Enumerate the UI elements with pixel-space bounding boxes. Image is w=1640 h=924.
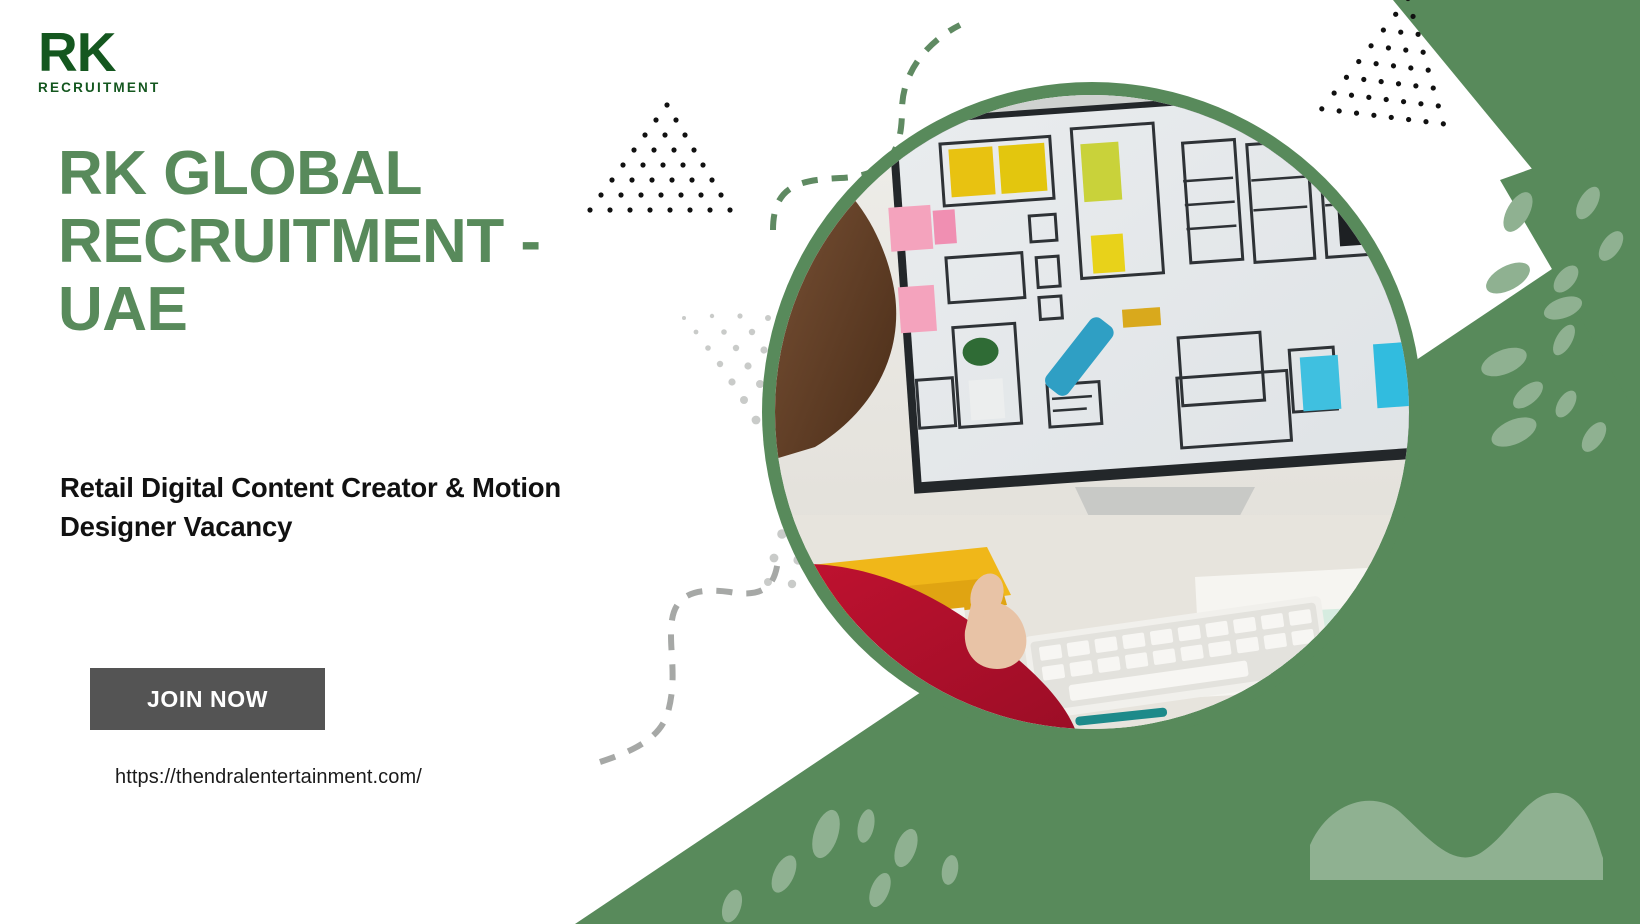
- photo-ring: [762, 82, 1422, 742]
- page-title: RK GLOBAL RECRUITMENT - UAE: [58, 140, 658, 345]
- logo-secondary-text: RECRUITMENT: [38, 80, 218, 95]
- poster-canvas: RK RECRUITMENT RK GLOBAL RECRUITMENT - U…: [0, 0, 1640, 924]
- website-url[interactable]: https://thendralentertainment.com/: [115, 766, 422, 789]
- page-subtitle: Retail Digital Content Creator & Motion …: [60, 468, 600, 546]
- brand-logo[interactable]: RK RECRUITMENT: [38, 26, 218, 95]
- join-now-button[interactable]: JOIN NOW: [90, 668, 325, 730]
- hero-photo: [775, 95, 1409, 729]
- logo-primary-text: RK: [38, 26, 218, 78]
